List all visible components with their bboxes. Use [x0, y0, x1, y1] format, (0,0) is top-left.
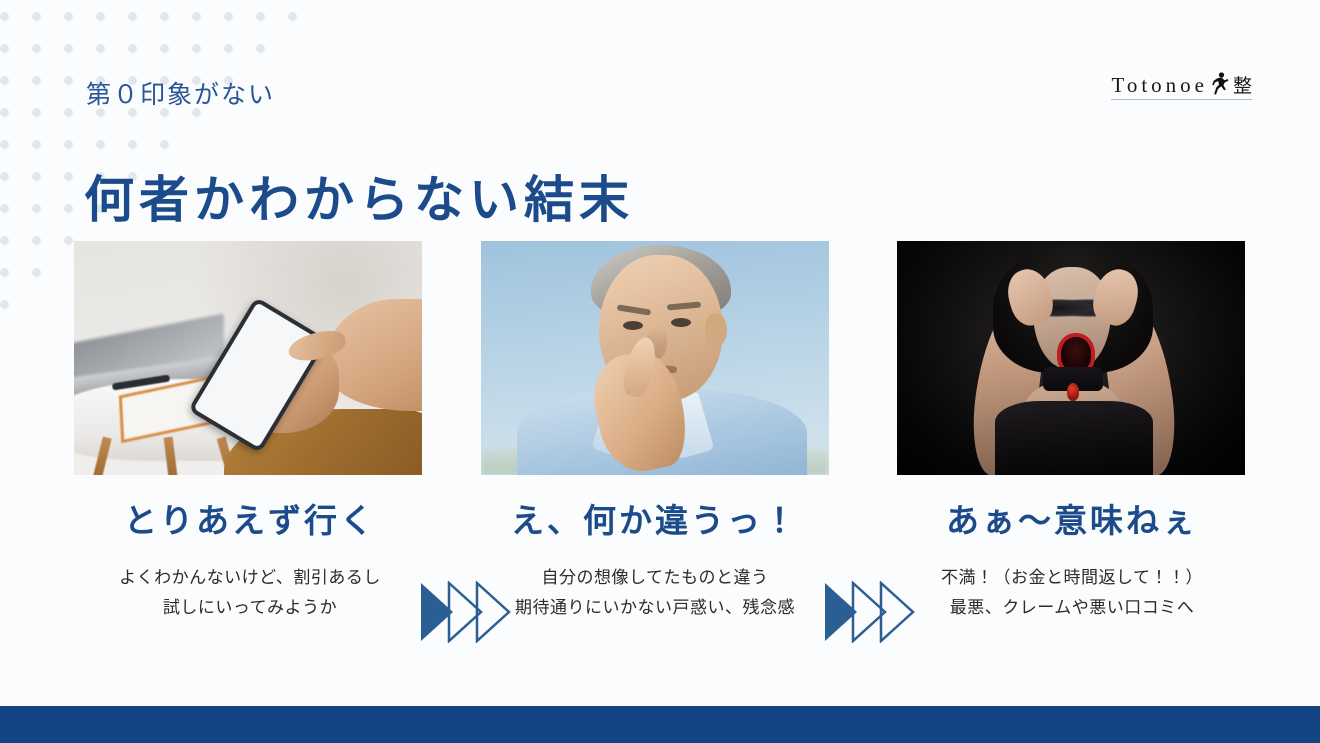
- dot-icon: [0, 76, 9, 85]
- photo-flow: [0, 241, 1320, 476]
- column-2-body-line-2: 期待通りにいかない戸惑い、残念感: [445, 593, 865, 623]
- dot-icon: [64, 44, 73, 53]
- dot-icon: [0, 172, 9, 181]
- dot-row: [0, 40, 288, 49]
- slide-eyebrow: 第０印象がない: [86, 80, 275, 110]
- logo-wordmark: Totonoe: [1111, 75, 1208, 96]
- dot-icon: [0, 108, 9, 117]
- dot-icon: [224, 44, 233, 53]
- column-3: あぁ〜意味ねぇ 不満！（お金と時間返して！！） 最悪、クレームや悪い口コミへ: [862, 500, 1282, 623]
- column-3-body: 不満！（お金と時間返して！！） 最悪、クレームや悪い口コミへ: [862, 563, 1282, 623]
- footer-bar: [0, 706, 1320, 743]
- dot-icon: [96, 12, 105, 21]
- dot-icon: [32, 44, 41, 53]
- dot-icon: [128, 140, 137, 149]
- column-2-body: 自分の想像してたものと違う 期待通りにいかない戸惑い、残念感: [445, 563, 865, 623]
- dot-icon: [0, 12, 9, 21]
- dot-icon: [256, 44, 265, 53]
- column-3-title: あぁ〜意味ねぇ: [862, 500, 1282, 541]
- brand-logo: Totonoe 整: [1111, 72, 1252, 100]
- dot-icon: [64, 108, 73, 117]
- dot-icon: [32, 108, 41, 117]
- photo-screaming-woman: [897, 241, 1245, 475]
- dot-icon: [64, 140, 73, 149]
- column-3-body-line-2: 最悪、クレームや悪い口コミへ: [862, 593, 1282, 623]
- dot-row: [0, 232, 96, 241]
- column-3-body-line-1: 不満！（お金と時間返して！！）: [862, 563, 1282, 593]
- dot-icon: [0, 140, 9, 149]
- dot-icon: [64, 12, 73, 21]
- dot-icon: [256, 12, 265, 21]
- column-2: え、何か違うっ！ 自分の想像してたものと違う 期待通りにいかない戸惑い、残念感: [445, 500, 865, 623]
- dot-icon: [32, 204, 41, 213]
- column-1: とりあえず行く よくわかんないけど、割引あるし 試しにいってみようか: [40, 500, 460, 623]
- dot-icon: [288, 12, 297, 21]
- page-title: 何者かわからない結末: [84, 172, 634, 230]
- column-2-body-line-1: 自分の想像してたものと違う: [445, 563, 865, 593]
- dot-row: [0, 8, 320, 17]
- dot-icon: [64, 172, 73, 181]
- dot-icon: [96, 44, 105, 53]
- dot-icon: [128, 44, 137, 53]
- dot-icon: [32, 172, 41, 181]
- photo-puzzled-man: [481, 241, 829, 475]
- column-1-title: とりあえず行く: [40, 500, 460, 541]
- dot-icon: [32, 76, 41, 85]
- dot-icon: [192, 44, 201, 53]
- dot-icon: [160, 140, 169, 149]
- dot-icon: [224, 12, 233, 21]
- dot-icon: [192, 12, 201, 21]
- dot-icon: [32, 140, 41, 149]
- dot-icon: [128, 12, 137, 21]
- dot-icon: [160, 44, 169, 53]
- column-1-body: よくわかんないけど、割引あるし 試しにいってみようか: [40, 563, 460, 623]
- dot-row: [0, 136, 192, 145]
- photo-smartphone-user: [74, 241, 422, 475]
- column-2-title: え、何か違うっ！: [445, 500, 865, 541]
- walking-person-icon: [1212, 72, 1229, 96]
- slide-root: 第０印象がない 何者かわからない結末 Totonoe 整: [0, 0, 1320, 743]
- logo-kanji: 整: [1233, 77, 1252, 96]
- column-1-body-line-2: 試しにいってみようか: [40, 593, 460, 623]
- dot-icon: [160, 12, 169, 21]
- dot-icon: [32, 12, 41, 21]
- dot-icon: [0, 44, 9, 53]
- column-1-body-line-1: よくわかんないけど、割引あるし: [40, 563, 460, 593]
- dot-icon: [0, 204, 9, 213]
- dot-icon: [64, 204, 73, 213]
- dot-icon: [96, 140, 105, 149]
- dot-icon: [64, 76, 73, 85]
